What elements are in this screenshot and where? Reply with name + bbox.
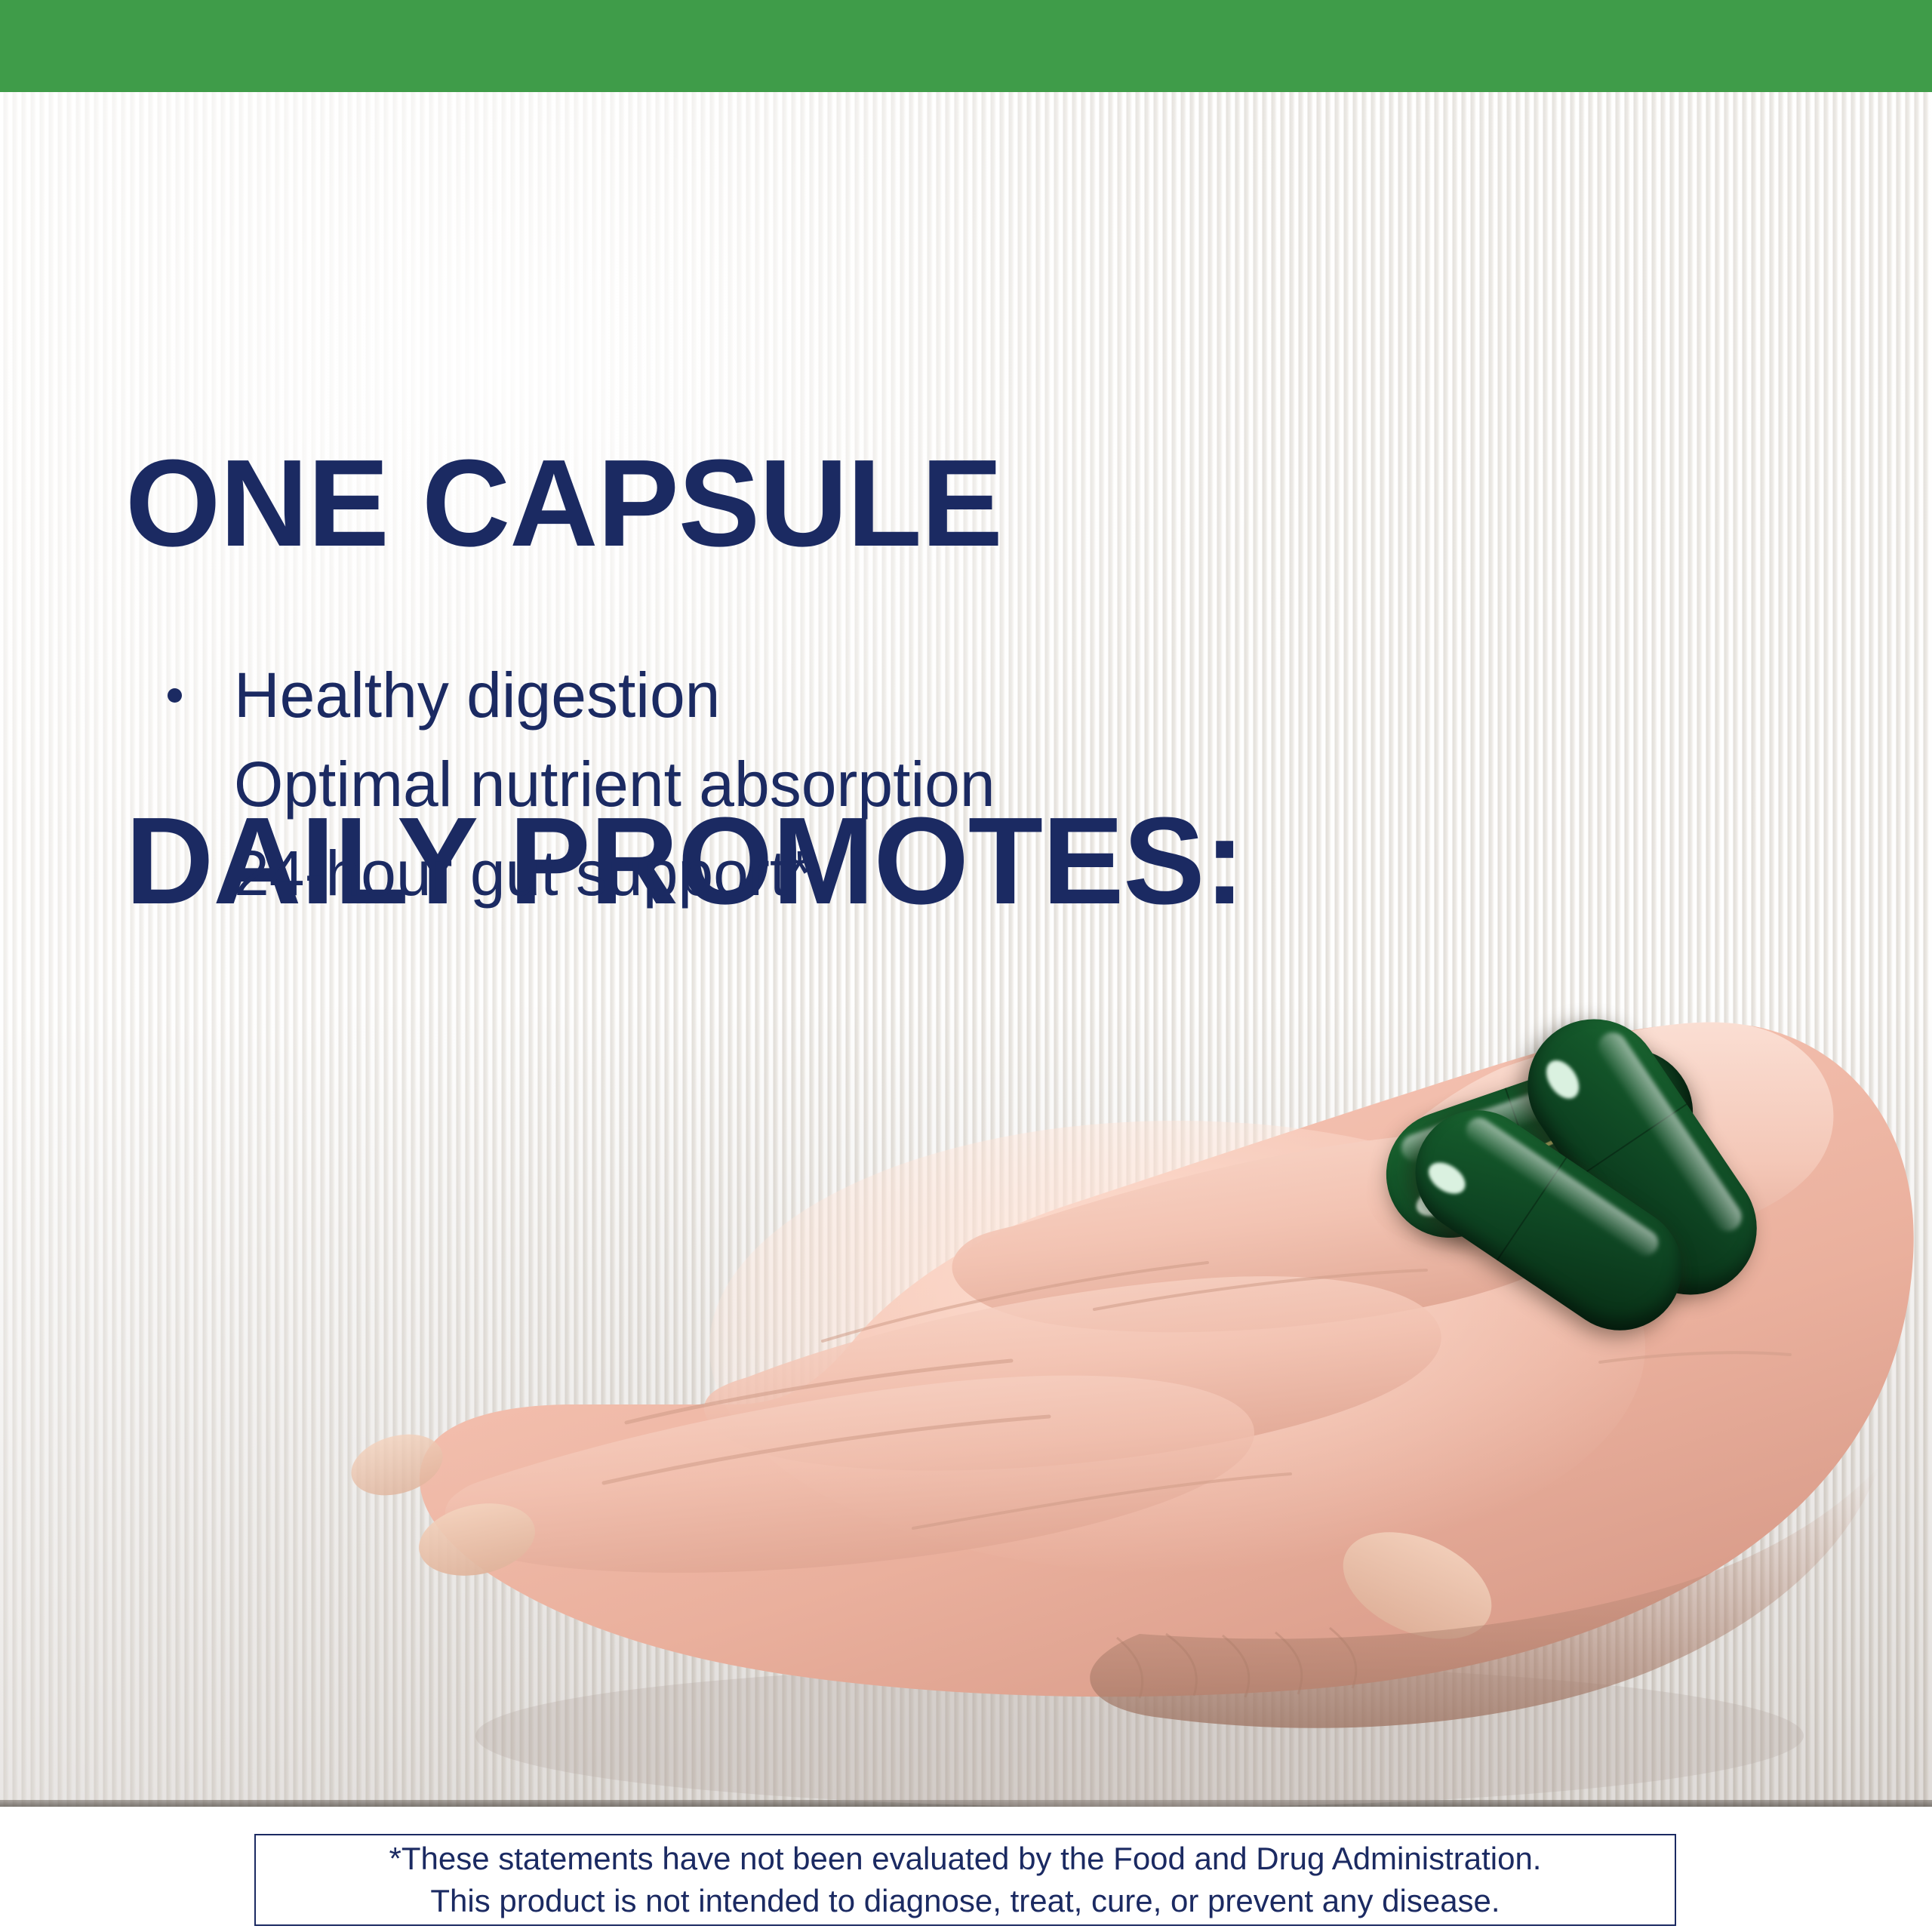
benefit-label-3: 24-hour gut support* — [234, 829, 812, 918]
disclaimer-line-1: *These statements have not been evaluate… — [389, 1838, 1542, 1880]
product-benefit-banner: ONE CAPSULE DAILY PROMOTES: Healthy dige… — [0, 0, 1932, 1932]
bullet-icon — [155, 651, 234, 740]
benefit-label-2: Optimal nutrient absorption — [234, 740, 995, 829]
benefits-list: Healthy digestion Optimal nutrient absor… — [155, 651, 995, 918]
benefit-label-1: Healthy digestion — [234, 651, 720, 740]
list-item: Healthy digestion — [155, 651, 995, 740]
list-item: 24-hour gut support* — [155, 829, 995, 918]
bullet-spacer — [155, 829, 234, 918]
list-item: Optimal nutrient absorption — [155, 740, 995, 829]
capsule-group — [1374, 1068, 1796, 1385]
bullet-spacer — [155, 740, 234, 829]
disclaimer-line-2: This product is not intended to diagnose… — [430, 1880, 1500, 1922]
brand-green-bar — [0, 0, 1932, 92]
footer-area: *These statements have not been evaluate… — [0, 1807, 1932, 1932]
fda-disclaimer-box: *These statements have not been evaluate… — [254, 1834, 1676, 1926]
headline-line-1: ONE CAPSULE — [125, 444, 1244, 563]
